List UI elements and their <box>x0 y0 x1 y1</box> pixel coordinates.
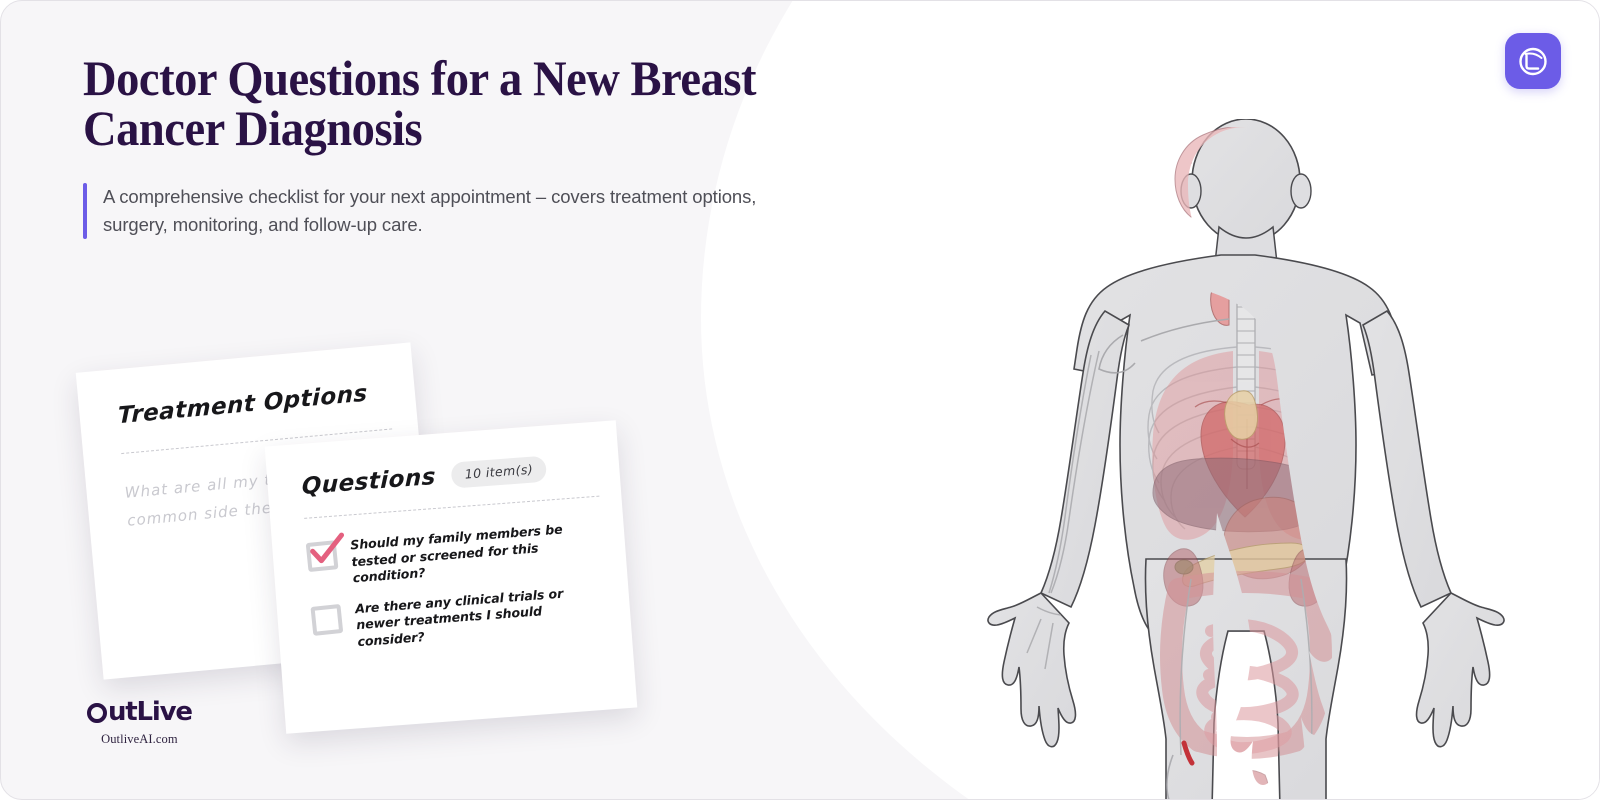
checklist-item[interactable]: Are there any clinical trials or newer t… <box>311 582 610 654</box>
outlive-o-ring-icon <box>87 703 107 723</box>
questions-card-title: Questions <box>301 464 436 500</box>
wordmark-suffix: Live <box>137 699 192 725</box>
poster-header: Doctor Questions for a New Breast Cancer… <box>83 53 873 239</box>
questions-card[interactable]: Questions 10 item(s) Should my family me… <box>265 420 638 734</box>
poster-canvas: Doctor Questions for a New Breast Cancer… <box>0 0 1600 800</box>
bladder-organ <box>1224 770 1269 800</box>
checklist-item-text: Should my family members be tested or sc… <box>350 519 605 588</box>
thymus-organ <box>1225 391 1258 440</box>
checklist-item-text: Are there any clinical trials or newer t… <box>355 582 610 651</box>
subtitle-block: A comprehensive checklist for your next … <box>83 183 803 239</box>
outlive-monogram-icon <box>1516 44 1550 78</box>
footer-branding: utLive OutliveAI.com <box>87 699 192 747</box>
wordmark-prefix: ut <box>108 699 137 725</box>
page-title: Doctor Questions for a New Breast Cancer… <box>83 53 818 153</box>
card-divider <box>304 496 599 519</box>
subtitle-accent-bar <box>83 183 87 239</box>
checkbox-box <box>310 604 343 636</box>
subtitle-text: A comprehensive checklist for your next … <box>103 183 803 239</box>
questions-card-header: Questions 10 item(s) <box>301 452 598 500</box>
outlive-logo-badge[interactable] <box>1505 33 1561 89</box>
checkbox-checked[interactable] <box>306 541 338 572</box>
human-anatomy-figure <box>941 119 1551 800</box>
checkbox-unchecked[interactable] <box>311 604 343 635</box>
check-mark-icon <box>304 531 346 568</box>
checklist-item[interactable]: Should my family members be tested or sc… <box>306 519 605 591</box>
item-count-badge: 10 item(s) <box>451 456 547 489</box>
outlive-wordmark: utLive <box>87 699 192 725</box>
treatment-options-card-title: Treatment Options <box>118 380 368 429</box>
questions-card-body: Questions 10 item(s) Should my family me… <box>265 420 638 734</box>
footer-url: OutliveAI.com <box>87 732 192 747</box>
questions-checklist: Should my family members be tested or sc… <box>306 519 610 655</box>
